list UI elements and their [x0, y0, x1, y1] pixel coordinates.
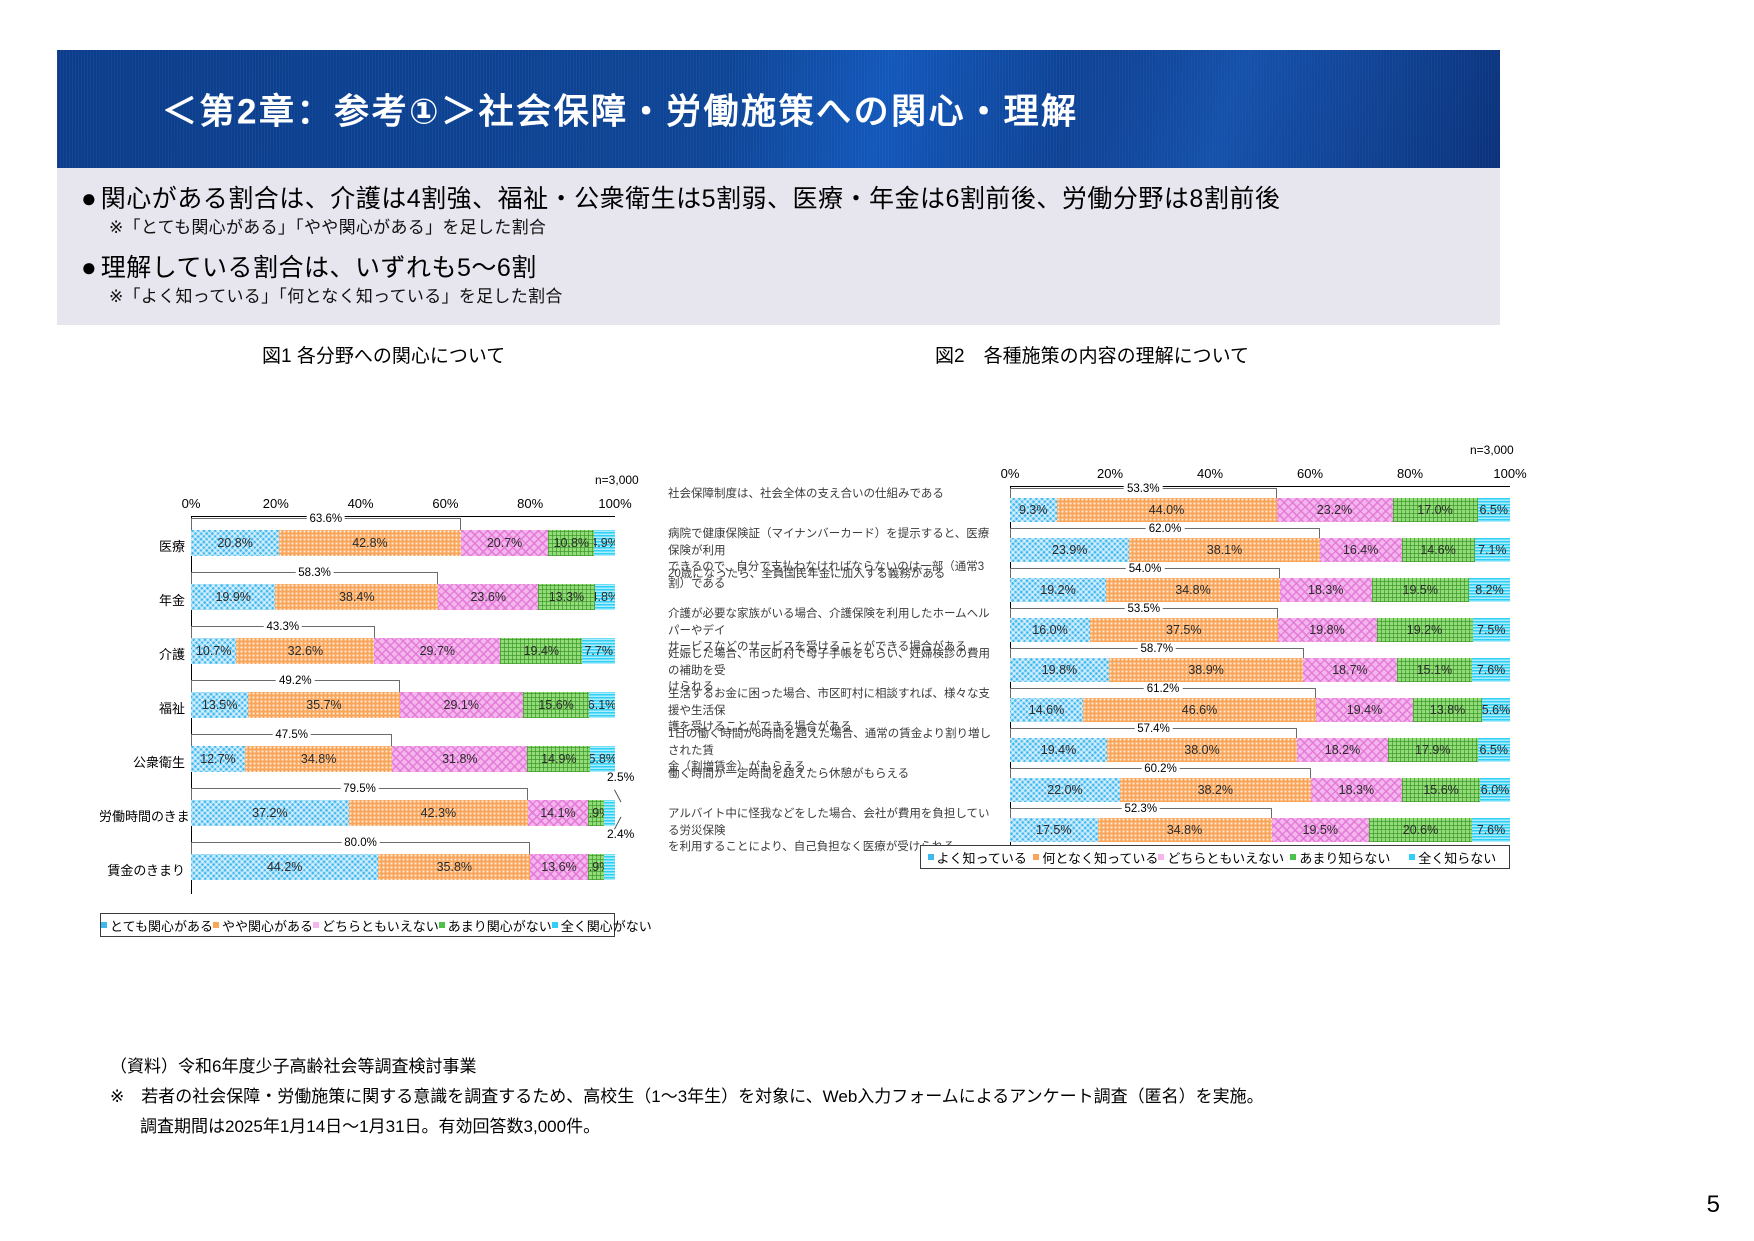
legend-item[interactable]: どちらともいえない: [313, 916, 439, 935]
bar-segment-value: 20.8%: [217, 536, 252, 550]
bar-segment-value: 38.0%: [1184, 743, 1219, 757]
table-row: 9.3%44.0%23.2%17.0%6.5%: [1010, 498, 1510, 522]
figure2-sample-size: n=3,000: [1470, 443, 1514, 457]
bar-segment: 14.6%: [1010, 698, 1083, 722]
bar-segment: 4.9%: [594, 530, 615, 556]
bar-segment-value: 12.7%: [200, 752, 235, 766]
figure1-chart: n=3,000 0%20%40%60%80%100% 医療63.6%20.8%4…: [95, 470, 695, 950]
bar-segment: 18.3%: [1280, 578, 1372, 602]
legend-swatch-icon: [552, 922, 558, 928]
table-row: 16.0%37.5%19.8%19.2%7.5%: [1010, 618, 1510, 642]
bar-segment: 20.7%: [461, 530, 549, 556]
bar-segment: 15.1%: [1397, 658, 1472, 682]
table-row: 22.0%38.2%18.3%15.6%6.0%: [1010, 778, 1510, 802]
bar-segment: 34.8%: [1098, 818, 1272, 842]
bar-segment-value: 14.6%: [1420, 543, 1455, 557]
bar-segment: 13.8%: [1413, 698, 1482, 722]
bar-segment-value: 38.1%: [1207, 543, 1242, 557]
bar-segment-value: 37.5%: [1166, 623, 1201, 637]
legend-item[interactable]: どちらともいえない: [1158, 848, 1284, 867]
bar-segment-value: 38.2%: [1198, 783, 1233, 797]
legend-label: あまり関心がない: [448, 916, 552, 935]
legend-item[interactable]: やや関心がある: [213, 916, 313, 935]
summary-point-1-text: 関心がある割合は、介護は4割強、福祉・公衆衛生は5割弱、医療・年金は6割前後、労…: [101, 185, 1281, 213]
legend-label: 何となく知っている: [1042, 848, 1158, 867]
summary-note-2: ※「よく知っている」「何となく知っている」を足した割合: [109, 282, 563, 307]
legend-item[interactable]: よく知っている: [921, 848, 1033, 867]
bullet-icon: ●: [81, 183, 97, 213]
bar-category-label: 労働時間のきまり: [99, 806, 185, 825]
bar-segment: 38.4%: [275, 584, 438, 610]
bar-segment-value: 34.8%: [301, 752, 336, 766]
bar-segment-value: 19.2%: [1040, 583, 1075, 597]
legend-swatch-icon: [1158, 854, 1164, 860]
bar-segment: 12.7%: [191, 746, 245, 772]
bar-segment-value: 6.1%: [589, 698, 615, 712]
bar-segment-value: 19.5%: [1303, 823, 1338, 837]
footer-note-line-2: 調査期間は2025年1月14日～1月31日。有効回答数3,000件。: [110, 1112, 1264, 1142]
legend-item[interactable]: あまり関心がない: [439, 916, 552, 935]
x-axis-tick: 0%: [1001, 466, 1020, 481]
page-title: ＜第2章：参考①＞社会保障・労働施策への関心・理解: [162, 84, 1079, 135]
bar-segment-value: 16.0%: [1032, 623, 1067, 637]
total-value-label: 61.2%: [1144, 683, 1183, 695]
legend-item[interactable]: 何となく知っている: [1033, 848, 1158, 867]
legend-label: よく知っている: [937, 848, 1027, 867]
bar-segment-value: 38.4%: [339, 590, 374, 604]
figure2-chart: n=3,000 0%20%40%60%80%100% 社会保障制度は、社会全体の…: [660, 440, 1530, 960]
legend-swatch-icon: [213, 922, 219, 928]
legend-item[interactable]: とても関心がある: [101, 916, 213, 935]
total-value-label: 80.0%: [341, 837, 380, 849]
table-row: 19.8%38.9%18.7%15.1%7.6%: [1010, 658, 1510, 682]
bar-segment: 42.3%: [349, 800, 528, 826]
bar-segment: 2.4%: [604, 854, 614, 880]
legend-swatch-icon: [928, 854, 934, 860]
bar-segment-value: 17.5%: [1036, 823, 1071, 837]
footer-notes: （資料）令和6年度少子高齢社会等調査検討事業 ※ 若者の社会保障・労働施策に関す…: [110, 1052, 1264, 1141]
summary-point-2-text: 理解している割合は、いずれも5～6割: [101, 254, 537, 282]
figure2-legend: よく知っている何となく知っているどちらともいえないあまり知らない全く知らない: [920, 845, 1510, 869]
bar-segment: 3.9%: [588, 854, 605, 880]
table-row: 13.5%35.7%29.1%15.6%6.1%: [191, 692, 615, 718]
bar-segment: 13.3%: [538, 584, 594, 610]
bar-segment-value: 17.0%: [1417, 503, 1452, 517]
bar-segment-value: 22.0%: [1047, 783, 1082, 797]
bullet-icon: ●: [81, 252, 97, 282]
figure1-sample-size: n=3,000: [595, 473, 639, 487]
bar-segment-value: 10.8%: [554, 536, 589, 550]
bar-segment: 23.9%: [1010, 538, 1129, 562]
bar-segment-value: 19.4%: [524, 644, 559, 658]
bar-segment-value: 18.3%: [1308, 583, 1343, 597]
x-axis-line: [191, 516, 615, 517]
bar-segment: 19.2%: [1010, 578, 1106, 602]
bar-segment: 20.6%: [1369, 818, 1472, 842]
bar-segment: 17.9%: [1388, 738, 1478, 762]
bar-segment: 19.2%: [1377, 618, 1473, 642]
bar-segment: 31.8%: [392, 746, 527, 772]
table-row: 23.9%38.1%16.4%14.6%7.1%: [1010, 538, 1510, 562]
total-value-label: 49.2%: [276, 675, 315, 687]
bar-segment: 13.6%: [530, 854, 588, 880]
bar-segment: 23.6%: [438, 584, 538, 610]
x-axis-line: [1010, 486, 1510, 487]
footer-source: （資料）令和6年度少子高齢社会等調査検討事業: [110, 1052, 1264, 1082]
table-row: 37.2%42.3%14.1%3.9%2.5%: [191, 800, 615, 826]
bar-segment-value: 19.4%: [1041, 743, 1076, 757]
bar-segment: 6.5%: [1478, 498, 1511, 522]
table-row: 20.8%42.8%20.7%10.8%4.9%: [191, 530, 615, 556]
bar-segment-value: 18.3%: [1339, 783, 1374, 797]
bar-category-label: 病院で健康保険証（マイナンバーカード）を提示すると、医療保険が利用 できるので、…: [668, 526, 998, 593]
bar-segment-value: 34.8%: [1167, 823, 1202, 837]
x-axis-tick: 100%: [598, 496, 631, 511]
bar-segment: 3.9%: [588, 800, 605, 826]
callout-value: 2.4%: [607, 827, 634, 841]
bar-segment: 13.5%: [191, 692, 248, 718]
bar-segment: 29.7%: [374, 638, 500, 664]
bar-segment: 19.5%: [1272, 818, 1370, 842]
table-row: 17.5%34.8%19.5%20.6%7.6%: [1010, 818, 1510, 842]
bar-segment-value: 8.2%: [1475, 583, 1504, 597]
bar-segment: 37.2%: [191, 800, 349, 826]
bar-segment: 18.3%: [1311, 778, 1402, 802]
bar-segment: 29.1%: [400, 692, 523, 718]
legend-label: 全く関心がない: [561, 916, 652, 935]
bar-segment: 38.1%: [1129, 538, 1319, 562]
bar-segment: 15.6%: [1402, 778, 1480, 802]
bar-segment-value: 44.2%: [267, 860, 302, 874]
x-axis-tick: 20%: [1097, 466, 1123, 481]
x-axis-tick: 60%: [1297, 466, 1323, 481]
bar-segment-value: 3.9%: [588, 860, 605, 874]
callout-leader-line: [614, 790, 621, 803]
bar-segment: 19.8%: [1278, 618, 1377, 642]
bar-segment: 8.2%: [1469, 578, 1510, 602]
bar-segment-value: 44.0%: [1149, 503, 1184, 517]
bar-segment: 5.6%: [1482, 698, 1510, 722]
total-value-label: 60.2%: [1141, 763, 1180, 775]
bar-segment-value: 15.6%: [1423, 783, 1458, 797]
bar-segment-value: 13.5%: [202, 698, 237, 712]
bar-segment: 35.8%: [378, 854, 530, 880]
table-row: 14.6%46.6%19.4%13.8%5.6%: [1010, 698, 1510, 722]
legend-swatch-icon: [101, 922, 107, 928]
bar-segment: 34.8%: [1106, 578, 1280, 602]
bar-segment-value: 34.8%: [1175, 583, 1210, 597]
bar-segment: 38.0%: [1107, 738, 1297, 762]
bar-segment-value: 23.6%: [470, 590, 505, 604]
bar-segment: 7.5%: [1473, 618, 1511, 642]
bar-segment-value: 37.2%: [252, 806, 287, 820]
bar-segment-value: 7.6%: [1477, 663, 1506, 677]
bar-category-label: 介護: [99, 644, 185, 663]
bar-segment: 19.8%: [1010, 658, 1109, 682]
bar-segment: 18.7%: [1303, 658, 1396, 682]
total-value-label: 58.3%: [295, 567, 334, 579]
legend-swatch-icon: [313, 922, 319, 928]
bar-segment: 34.8%: [245, 746, 393, 772]
bar-segment-value: 5.8%: [590, 752, 615, 766]
bar-segment: 14.1%: [528, 800, 588, 826]
bar-segment-value: 42.8%: [352, 536, 387, 550]
bar-segment-value: 14.9%: [541, 752, 576, 766]
bar-segment: 20.8%: [191, 530, 279, 556]
bar-segment-value: 15.6%: [538, 698, 573, 712]
bar-segment: 19.4%: [1316, 698, 1413, 722]
summary-point-2: ●理解している割合は、いずれも5～6割: [81, 248, 537, 284]
bar-segment-value: 19.9%: [215, 590, 250, 604]
bar-segment-value: 14.1%: [540, 806, 575, 820]
x-axis-tick: 60%: [432, 496, 458, 511]
x-axis-tick: 20%: [263, 496, 289, 511]
legend-label: とても関心がある: [110, 916, 213, 935]
legend-swatch-icon: [1033, 854, 1039, 860]
bar-segment: 38.9%: [1109, 658, 1303, 682]
bar-segment-value: 31.8%: [442, 752, 477, 766]
legend-label: どちらともいえない: [322, 916, 439, 935]
bar-segment: 16.0%: [1010, 618, 1090, 642]
bar-category-label: 20歳になったら、全員国民年金に加入する義務がある: [668, 566, 998, 583]
legend-label: 全く知らない: [1418, 848, 1496, 867]
bar-segment: 18.2%: [1297, 738, 1388, 762]
bar-segment-value: 16.4%: [1343, 543, 1378, 557]
total-value-label: 63.6%: [307, 513, 346, 525]
bar-category-label: 福祉: [99, 698, 185, 717]
bar-segment-value: 7.1%: [1478, 543, 1507, 557]
bar-segment-value: 19.4%: [1347, 703, 1382, 717]
bar-category-label: 社会保障制度は、社会全体の支え合いの仕組みである: [668, 486, 998, 503]
bar-segment: 7.1%: [1475, 538, 1510, 562]
footer-note-line-1: ※ 若者の社会保障・労働施策に関する意識を調査するため、高校生（1～3年生）を対…: [110, 1082, 1264, 1112]
bar-segment: 14.9%: [527, 746, 590, 772]
bar-segment: 42.8%: [279, 530, 460, 556]
bar-segment: 15.6%: [523, 692, 589, 718]
figure2-caption: 図2 各種施策の内容の理解について: [935, 341, 1249, 368]
bar-segment-value: 4.9%: [594, 536, 615, 550]
bar-segment: 44.0%: [1057, 498, 1277, 522]
bar-segment: 10.7%: [191, 638, 236, 664]
figure1-legend: とても関心があるやや関心があるどちらともいえないあまり関心がない全く関心がない: [100, 913, 615, 937]
table-row: 44.2%35.8%13.6%3.9%2.4%: [191, 854, 615, 880]
bar-segment: 16.4%: [1320, 538, 1402, 562]
bar-segment: 6.5%: [1478, 738, 1511, 762]
bar-segment-value: 35.7%: [306, 698, 341, 712]
bar-segment-value: 19.8%: [1042, 663, 1077, 677]
bar-segment: 19.5%: [1372, 578, 1470, 602]
table-row: 10.7%32.6%29.7%19.4%7.7%: [191, 638, 615, 664]
bar-segment: 7.6%: [1472, 658, 1510, 682]
bar-segment: 4.8%: [595, 584, 615, 610]
bar-segment: 17.5%: [1010, 818, 1098, 842]
total-value-label: 57.4%: [1134, 723, 1173, 735]
bar-segment-value: 15.1%: [1417, 663, 1452, 677]
bar-segment-value: 7.7%: [584, 644, 613, 658]
bar-segment-value: 20.7%: [487, 536, 522, 550]
bar-segment: 7.6%: [1472, 818, 1510, 842]
total-value-label: 62.0%: [1146, 523, 1185, 535]
x-axis-tick: 100%: [1493, 466, 1526, 481]
bar-segment-value: 6.5%: [1480, 503, 1509, 517]
x-axis-tick: 0%: [182, 496, 201, 511]
figure1-caption: 図1 各分野への関心について: [262, 341, 505, 368]
bar-segment: 14.6%: [1402, 538, 1475, 562]
bar-segment-value: 20.6%: [1403, 823, 1438, 837]
legend-item[interactable]: あまり知らない: [1284, 848, 1396, 867]
summary-point-1: ●関心がある割合は、介護は4割強、福祉・公衆衛生は5割弱、医療・年金は6割前後、…: [81, 179, 1280, 215]
bar-segment: 23.2%: [1277, 498, 1393, 522]
bar-segment-value: 13.6%: [541, 860, 576, 874]
legend-item[interactable]: 全く知らない: [1397, 848, 1509, 867]
bar-segment-value: 38.9%: [1188, 663, 1223, 677]
bar-segment-value: 29.1%: [444, 698, 479, 712]
bar-segment-value: 7.5%: [1477, 623, 1506, 637]
page-number: 5: [1707, 1191, 1720, 1219]
bar-category-label: 働く時間が一定時間を超えたら休憩がもらえる: [668, 766, 998, 783]
bar-segment-value: 23.2%: [1317, 503, 1352, 517]
bar-segment-value: 13.3%: [549, 590, 584, 604]
bar-segment-value: 18.7%: [1332, 663, 1367, 677]
bar-segment-value: 6.5%: [1480, 743, 1509, 757]
bar-segment-value: 19.2%: [1407, 623, 1442, 637]
bar-segment-value: 32.6%: [288, 644, 323, 658]
bar-segment-value: 29.7%: [420, 644, 455, 658]
total-value-label: 58.7%: [1137, 643, 1176, 655]
legend-item[interactable]: 全く関心がない: [552, 916, 652, 935]
bar-segment: 19.4%: [1010, 738, 1107, 762]
bar-segment: 35.7%: [248, 692, 399, 718]
callout-value: 2.5%: [607, 770, 634, 784]
bar-segment-value: 13.8%: [1430, 703, 1465, 717]
bar-segment: 38.2%: [1120, 778, 1311, 802]
bar-category-label: 賃金のきまり: [99, 860, 185, 879]
total-value-label: 53.3%: [1124, 483, 1163, 495]
summary-panel: ●関心がある割合は、介護は4割強、福祉・公衆衛生は5割弱、医療・年金は6割前後、…: [57, 168, 1500, 325]
bar-segment: 22.0%: [1010, 778, 1120, 802]
bar-segment-value: 14.6%: [1029, 703, 1064, 717]
table-row: 19.4%38.0%18.2%17.9%6.5%: [1010, 738, 1510, 762]
header-banner: ＜第2章：参考①＞社会保障・労働施策への関心・理解: [57, 50, 1500, 168]
bar-segment: 10.8%: [548, 530, 594, 556]
table-row: 19.9%38.4%23.6%13.3%4.8%: [191, 584, 615, 610]
bar-segment-value: 3.9%: [588, 806, 605, 820]
table-row: 12.7%34.8%31.8%14.9%5.8%: [191, 746, 615, 772]
bar-segment: 7.7%: [582, 638, 615, 664]
total-value-label: 43.3%: [263, 621, 302, 633]
bar-segment-value: 6.0%: [1481, 783, 1510, 797]
bar-segment: 37.5%: [1090, 618, 1278, 642]
bar-segment-value: 46.6%: [1182, 703, 1217, 717]
bar-segment-value: 23.9%: [1052, 543, 1087, 557]
bar-segment: 44.2%: [191, 854, 378, 880]
bar-segment-value: 5.6%: [1482, 703, 1510, 717]
legend-swatch-icon: [439, 922, 445, 928]
bar-segment-value: 10.7%: [196, 644, 231, 658]
bar-segment: 6.0%: [1480, 778, 1510, 802]
bar-segment: 9.3%: [1010, 498, 1057, 522]
total-value-label: 79.5%: [340, 783, 379, 795]
bar-segment-value: 18.2%: [1325, 743, 1360, 757]
x-axis-tick: 40%: [1197, 466, 1223, 481]
total-value-label: 52.3%: [1121, 803, 1160, 815]
x-axis-tick: 80%: [1397, 466, 1423, 481]
legend-label: やや関心がある: [222, 916, 313, 935]
bar-category-label: 医療: [99, 536, 185, 555]
bar-segment-value: 4.8%: [595, 590, 615, 604]
bar-segment: 32.6%: [236, 638, 374, 664]
x-axis-tick: 80%: [517, 496, 543, 511]
total-value-label: 47.5%: [272, 729, 311, 741]
bar-segment: 46.6%: [1083, 698, 1316, 722]
bar-category-label: 公衆衛生: [99, 752, 185, 771]
legend-label: あまり知らない: [1299, 848, 1390, 867]
bar-segment: 5.8%: [590, 746, 615, 772]
bar-segment: 19.9%: [191, 584, 275, 610]
bar-segment-value: 9.3%: [1019, 503, 1048, 517]
bar-segment-value: 19.8%: [1309, 623, 1344, 637]
table-row: 19.2%34.8%18.3%19.5%8.2%: [1010, 578, 1510, 602]
legend-label: どちらともいえない: [1167, 848, 1284, 867]
x-axis-tick: 40%: [348, 496, 374, 511]
bar-segment-value: 35.8%: [437, 860, 472, 874]
summary-note-1: ※「とても関心がある」「やや関心がある」を足した割合: [109, 213, 546, 238]
bar-segment: 19.4%: [500, 638, 582, 664]
total-value-label: 54.0%: [1126, 563, 1165, 575]
bar-segment: 6.1%: [589, 692, 615, 718]
legend-swatch-icon: [1409, 854, 1415, 860]
bar-segment-value: 7.6%: [1477, 823, 1506, 837]
bar-category-label: 年金: [99, 590, 185, 609]
legend-swatch-icon: [1290, 854, 1296, 860]
bar-segment: 2.5%: [604, 800, 615, 826]
bar-segment: 17.0%: [1393, 498, 1478, 522]
total-value-label: 53.5%: [1124, 603, 1163, 615]
bar-segment-value: 17.9%: [1415, 743, 1450, 757]
bar-segment-value: 19.5%: [1403, 583, 1438, 597]
bar-segment-value: 42.3%: [421, 806, 456, 820]
